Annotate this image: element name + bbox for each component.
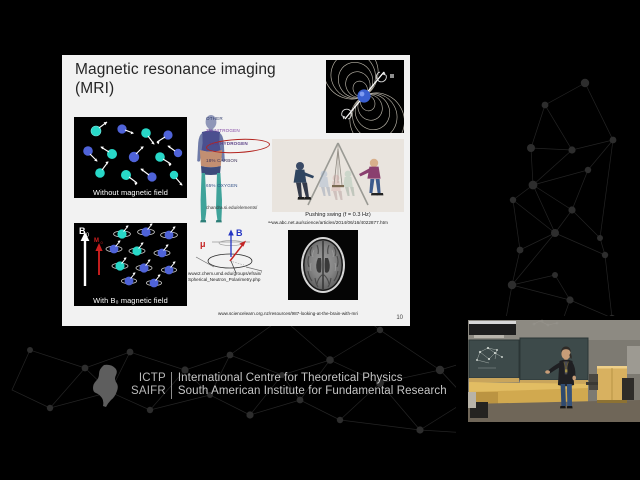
svg-text:B: B: [236, 228, 243, 238]
precession-vector-diagram: B μ: [192, 223, 272, 273]
speaker-video-inset[interactable]: [456, 316, 640, 480]
ictp-divider: [171, 372, 172, 399]
svg-text:μ: μ: [200, 239, 206, 249]
ictp-acronym-text: ICTP SAIFR: [131, 372, 171, 399]
composition-label-oxygen: 65% OXYGEN: [206, 183, 238, 188]
panel-brain-mri: [288, 230, 358, 300]
panel-caption-with-field: With B₀ magnetic field: [74, 296, 187, 305]
svg-text:M: M: [94, 238, 99, 244]
south-america-map-icon: [88, 363, 128, 407]
aligned-spins-diagram: B 0 M 0: [74, 223, 187, 306]
presentation-slide: Magnetic resonance imaging (MRI): [62, 55, 410, 326]
panel-pushing-swing: [272, 139, 404, 212]
ictp-saifr-branding: ICTP SAIFR International Centre for Theo…: [88, 362, 447, 408]
slide-page-number: 10: [396, 315, 403, 321]
ictp-full-name-text: International Centre for Theoretical Phy…: [178, 372, 447, 399]
panel-caption-no-field: Without magnetic field: [74, 188, 187, 197]
svg-text:0: 0: [86, 233, 89, 239]
panel-with-b0-magnetic-field: B 0 M 0 With B₀ magnetic field: [74, 223, 187, 306]
composition-label-nitrogen: 3% NITROGEN: [206, 128, 240, 133]
swing-resonance-illustration: [272, 139, 404, 212]
panel-without-magnetic-field: Without magnetic field: [74, 117, 187, 198]
umd-source-url: www2.chem.umd.edu/groups/efrain/ Spheric…: [188, 271, 262, 283]
panel-dipole-field: [326, 60, 404, 133]
abc-source-url: www.abc.net.au/science/articles/2014/06/…: [268, 220, 388, 225]
slide-title: Magnetic resonance imaging (MRI): [75, 60, 325, 98]
presentation-recording-frame: Magnetic resonance imaging (MRI): [0, 0, 640, 480]
random-spins-diagram: [74, 117, 187, 198]
chandra-source-url: chandra.si.edu/elements/: [206, 205, 257, 210]
composition-label-carbon: 18% CARBON: [206, 158, 238, 163]
lecture-hall-scene: [456, 316, 640, 480]
swing-caption: Pushing swing (f = 0.3 Hz): [272, 212, 404, 218]
composition-label-other: OTHER: [206, 116, 223, 121]
sciencelearn-source-url: www.sciencelearn.org.nz/resources/987-lo…: [218, 311, 358, 316]
brain-mri-image: [288, 230, 358, 300]
magnetic-dipole-diagram: [326, 60, 404, 133]
svg-text:B: B: [79, 226, 86, 236]
